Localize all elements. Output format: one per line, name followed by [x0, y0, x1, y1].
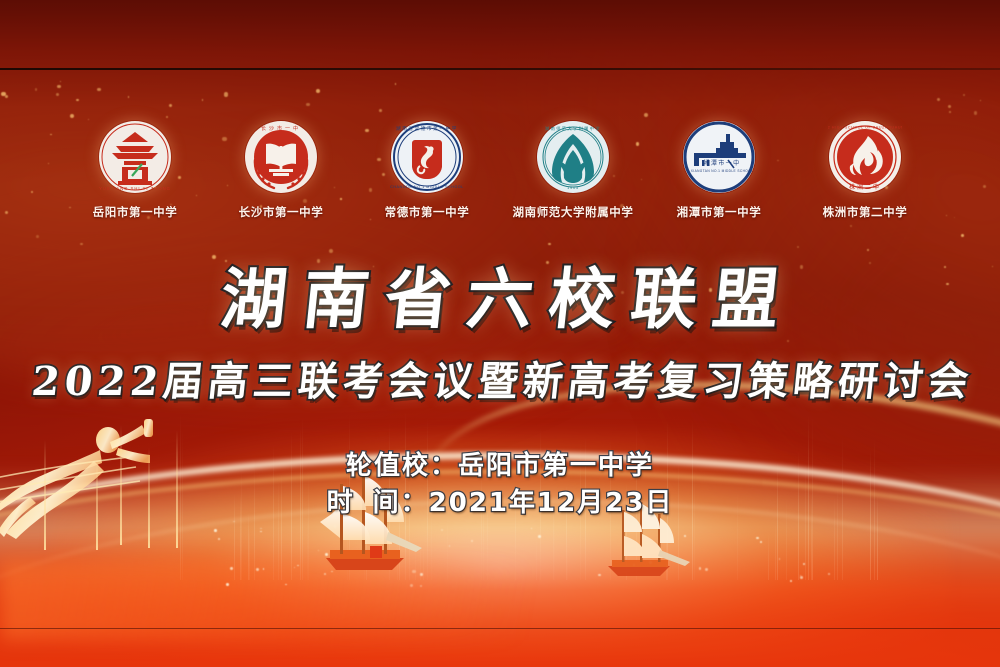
school-logo-row: YUE YANG SHI YI ZHONG 岳阳市第一中学	[0, 120, 1000, 238]
host-value: 岳阳市第一中学	[458, 451, 654, 481]
svg-text:湖南省常德市第一中学: 湖南省常德市第一中学	[396, 125, 458, 132]
pine-tree-icon: 湖南师范大学附属中学 1905	[536, 120, 610, 194]
time-value: 2021年12月23日	[429, 488, 674, 518]
school-name-2: 常德市第一中学	[385, 204, 470, 220]
school-item-1[interactable]: 长沙市一中 长沙市第一中学	[222, 120, 340, 220]
host-school-line: 轮值校：岳阳市第一中学	[0, 448, 1000, 485]
flame-icon: NO.2 HIGH SCHOOL OF ZHUZHOUHUNAN 株洲二中	[828, 120, 902, 194]
event-info: 轮值校：岳阳市第一中学 时间：2021年12月23日	[0, 448, 1000, 522]
page-title: 湖南省六校联盟	[0, 266, 1000, 332]
flame-logo-inner-text: 株洲二中	[849, 183, 881, 191]
svg-text:1905: 1905	[567, 185, 579, 190]
school-name-4: 湘潭市第一中学	[677, 204, 762, 220]
school-name-3: 湖南师范大学附属中学	[513, 204, 634, 220]
open-book-laurel-icon: 长沙市一中	[244, 120, 318, 194]
svg-text:湘潭市一中: 湘潭市一中	[703, 159, 740, 167]
host-label: 轮值校：	[346, 451, 458, 481]
school-item-5[interactable]: NO.2 HIGH SCHOOL OF ZHUZHOUHUNAN 株洲二中 株洲…	[806, 120, 924, 220]
conference-backdrop: YUE YANG SHI YI ZHONG 岳阳市第一中学	[0, 0, 1000, 667]
svg-text:CHANGDE NO.1 MIDDLE SCHOOL: CHANGDE NO.1 MIDDLE SCHOOL	[390, 185, 464, 189]
school-item-3[interactable]: 湖南师范大学附属中学 1905 湖南师范大学附属中学	[514, 120, 632, 220]
led-panel-seam-top	[0, 68, 1000, 70]
page-subtitle: 2022届高三联考会议暨新高考复习策略研讨会	[0, 362, 1000, 402]
svg-text:XIANGTAN NO.1 MIDDLE SCHOOL: XIANGTAN NO.1 MIDDLE SCHOOL	[691, 169, 753, 173]
led-panel-seam-bottom	[0, 628, 1000, 629]
time-label: 时	[327, 488, 355, 518]
school-name-0: 岳阳市第一中学	[93, 204, 178, 220]
svg-text:湖南师范大学附属中学: 湖南师范大学附属中学	[545, 125, 601, 132]
gate-tower-icon: 湘潭市一中 XIANGTAN NO.1 MIDDLE SCHOOL	[682, 120, 756, 194]
pagoda-emblem-icon: YUE YANG SHI YI ZHONG	[98, 120, 172, 194]
school-item-2[interactable]: 湖南省常德市第一中学 CHANGDE NO.1 MIDDLE SCHOOL 常德…	[368, 120, 486, 220]
svg-text:YUE YANG SHI YI ZHONG: YUE YANG SHI YI ZHONG	[99, 186, 171, 191]
flame-logo-outer-text: NO.2 HIGH SCHOOL OF ZHUZHOUHUNAN	[828, 126, 902, 130]
school-item-0[interactable]: YUE YANG SHI YI ZHONG 岳阳市第一中学	[76, 120, 194, 220]
event-time-line: 时间：2021年12月23日	[0, 485, 1000, 522]
time-label-colon: 间：	[373, 488, 429, 518]
school-name-1: 长沙市第一中学	[239, 204, 324, 220]
school-item-4[interactable]: 湘潭市一中 XIANGTAN NO.1 MIDDLE SCHOOL 湘潭市第一中…	[660, 120, 778, 220]
shield-crest-icon: 湖南省常德市第一中学 CHANGDE NO.1 MIDDLE SCHOOL	[390, 120, 464, 194]
svg-text:长沙市一中: 长沙市一中	[261, 125, 301, 132]
school-name-5: 株洲市第二中学	[823, 204, 908, 220]
